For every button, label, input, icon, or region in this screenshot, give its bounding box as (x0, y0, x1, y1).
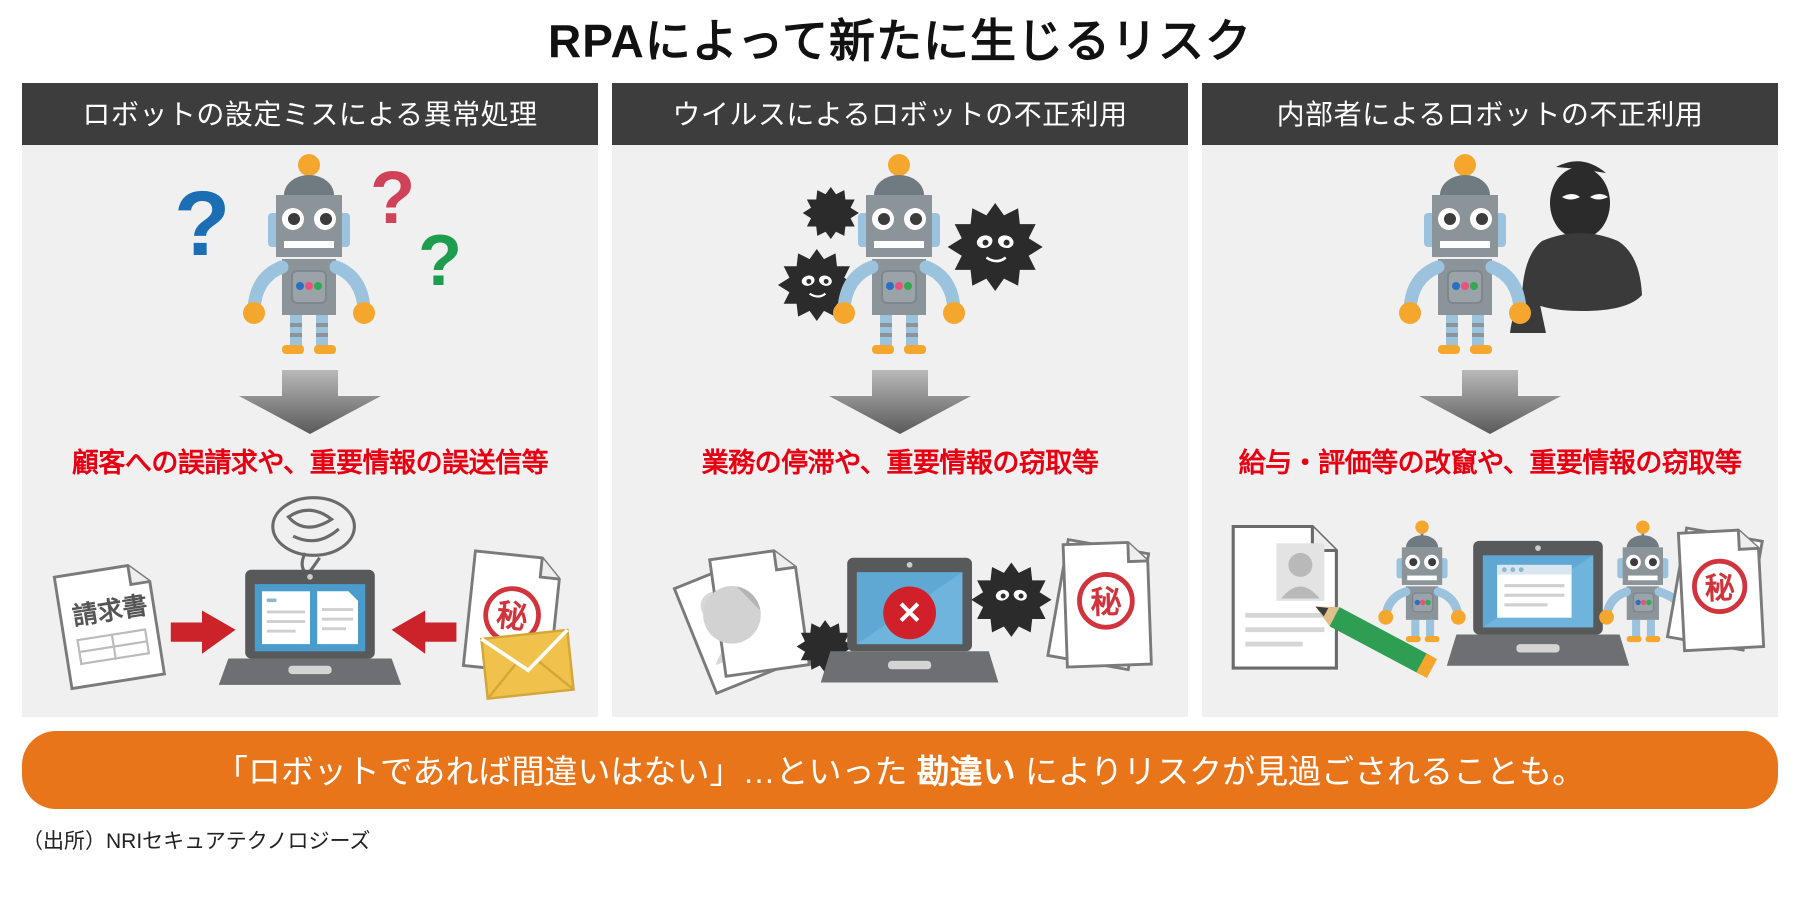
question-mark-red: ? (370, 156, 415, 239)
panel-red-caption: 業務の停滞や、重要情報の窃取等 (702, 439, 1099, 480)
svg-text:✕: ✕ (897, 596, 923, 631)
laptop-error-icon: ✕ (821, 558, 999, 683)
down-arrow (22, 367, 598, 439)
source-attribution: （出所）NRIセキュアテクノロジーズ (22, 825, 1800, 855)
scene-robot-with-virus-blobs (612, 145, 1188, 367)
scribble-thought-icon (273, 498, 355, 575)
svg-text:?: ? (174, 173, 230, 275)
confidential-documents: 秘 (1667, 528, 1763, 651)
arrow-right-red (392, 611, 457, 654)
invoice-document: 請求書 (54, 563, 164, 689)
summary-banner: 「ロボットであれば間違いはない」…といった 勘違い によりリスクが見過ごされるこ… (22, 731, 1778, 809)
virus-blob-right-bottom (971, 563, 1051, 637)
robot-left-small (1378, 521, 1465, 643)
down-arrow (612, 367, 1188, 439)
panel-header: 内部者によるロボットの不正利用 (1202, 83, 1778, 145)
panel-body: ? ? ? (22, 145, 598, 717)
question-mark-green: ? (418, 221, 462, 301)
confidential-documents: 秘 (1048, 540, 1151, 670)
panel-header: ウイルスによるロボットの不正利用 (612, 83, 1188, 145)
scene-robot-with-question-marks: ? ? ? (22, 145, 598, 367)
panel-insider-misuse: 内部者によるロボットの不正利用 (1202, 83, 1778, 717)
secret-stamp: 秘 (1090, 584, 1122, 620)
banner-text-bold: 勘違い (917, 753, 1016, 790)
page-title: RPAによって新たに生じるリスク (0, 0, 1800, 69)
robot-illustration (833, 154, 965, 354)
panel-robot-misconfiguration: ロボットの設定ミスによる異常処理 ? ? ? (22, 83, 598, 717)
secret-stamp: 秘 (1704, 572, 1736, 607)
panel-red-caption: 顧客への誤請求や、重要情報の誤送信等 (72, 439, 548, 480)
scene-laptop-error-virus-documents: ✕ (612, 480, 1188, 717)
panel-red-caption: 給与・評価等の改竄や、重要情報の窃取等 (1239, 439, 1742, 480)
banner-text-before: 「ロボットであれば間違いはない」…といった (215, 753, 917, 790)
virus-blob-right (948, 203, 1043, 291)
laptop-icon (219, 570, 401, 685)
personnel-document (1233, 527, 1336, 669)
secret-stamp: 秘 (495, 598, 530, 636)
svg-text:?: ? (370, 156, 415, 239)
banner-text-after: によりリスクが見過ごされることも。 (1016, 753, 1586, 790)
virus-blob-small (803, 187, 859, 239)
scene-robots-personnel-file: 秘 (1202, 480, 1778, 717)
robot-illustration (243, 154, 375, 354)
down-arrow (1202, 367, 1778, 439)
panels-row: ロボットの設定ミスによる異常処理 ? ? ? (0, 69, 1800, 717)
scene-laptop-invoice-confidential: 請求書 (22, 480, 598, 717)
robot-illustration (1399, 154, 1531, 354)
insider-silhouette (1510, 161, 1642, 333)
document-stack (674, 548, 809, 693)
panel-body: 給与・評価等の改竄や、重要情報の窃取等 (1202, 145, 1778, 717)
arrow-left-red (171, 611, 236, 654)
panel-body: 業務の停滞や、重要情報の窃取等 (612, 145, 1188, 717)
scene-robot-with-insider (1202, 145, 1778, 367)
laptop-icon (1447, 541, 1629, 666)
envelope-icon (481, 630, 573, 699)
panel-header: ロボットの設定ミスによる異常処理 (22, 83, 598, 145)
panel-virus-misuse: ウイルスによるロボットの不正利用 (612, 83, 1188, 717)
svg-text:?: ? (418, 221, 462, 301)
question-mark-blue: ? (174, 173, 230, 275)
